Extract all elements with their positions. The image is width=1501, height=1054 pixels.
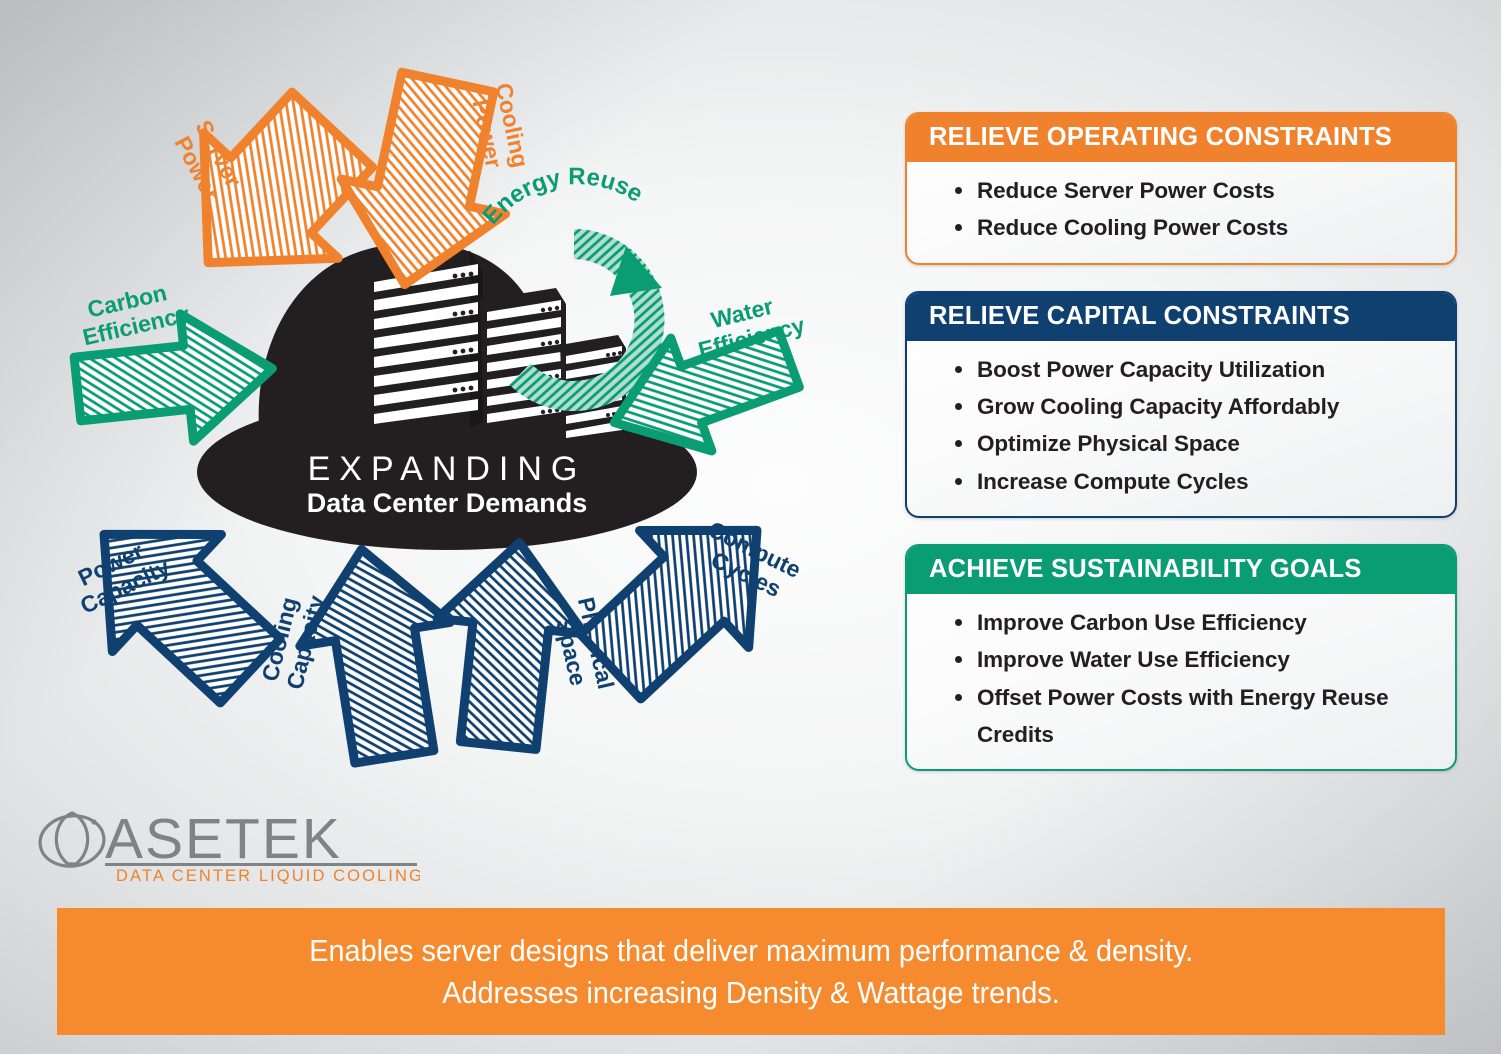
expanding-demands-diagram: EXPANDING Data Center Demands Server Pow… [0,0,880,790]
asetek-tagline: DATA CENTER LIQUID COOLING [116,867,420,885]
benefits-panels: RELIEVE OPERATING CONSTRAINTS Reduce Ser… [905,112,1457,797]
asetek-rule [105,863,417,866]
panel-list: Reduce Server Power Costs Reduce Cooling… [927,172,1435,247]
panel-title: RELIEVE OPERATING CONSTRAINTS [907,114,1455,162]
list-item: Reduce Cooling Power Costs [977,209,1435,246]
bottom-banner: Enables server designs that deliver maxi… [57,908,1445,1035]
list-item: Grow Cooling Capacity Affordably [977,388,1435,425]
panel-body: Boost Power Capacity Utilization Grow Co… [907,341,1455,516]
list-item: Boost Power Capacity Utilization [977,351,1435,388]
asetek-registered-dot [91,819,96,824]
infographic-canvas: EXPANDING Data Center Demands Server Pow… [0,0,1501,1054]
center-title: EXPANDING [308,450,587,488]
panel-body: Reduce Server Power Costs Reduce Cooling… [907,162,1455,263]
panel-relieve-capital-constraints: RELIEVE CAPITAL CONSTRAINTS Boost Power … [905,291,1457,518]
asetek-wordmark: ASETEK [105,807,342,871]
panel-achieve-sustainability-goals: ACHIEVE SUSTAINABILITY GOALS Improve Car… [905,544,1457,771]
list-item: Increase Compute Cycles [977,463,1435,500]
panel-list: Boost Power Capacity Utilization Grow Co… [927,351,1435,500]
list-item: Reduce Server Power Costs [977,172,1435,209]
panel-relieve-operating-constraints: RELIEVE OPERATING CONSTRAINTS Reduce Ser… [905,112,1457,265]
panel-body: Improve Carbon Use Efficiency Improve Wa… [907,594,1455,769]
arrow-label-carbon-efficiency: Carbon Efficiency [74,275,192,350]
banner-line-1: Enables server designs that deliver maxi… [309,930,1193,971]
asetek-mark-icon [37,812,107,870]
panel-title: ACHIEVE SUSTAINABILITY GOALS [907,546,1455,594]
banner-line-2: Addresses increasing Density & Wattage t… [442,972,1059,1013]
panel-list: Improve Carbon Use Efficiency Improve Wa… [927,604,1435,753]
arrow-label-energy-reuse: Energy Reuse [477,163,647,229]
asetek-logo: ASETEK DATA CENTER LIQUID COOLING [30,800,420,885]
list-item: Optimize Physical Space [977,425,1435,462]
arrow-label-cooling-capacity: Cooling Capacity [256,586,330,692]
panel-title: RELIEVE CAPITAL CONSTRAINTS [907,293,1455,341]
center-subtitle: Data Center Demands [307,488,588,518]
list-item: Improve Carbon Use Efficiency [977,604,1435,641]
list-item: Improve Water Use Efficiency [977,641,1435,678]
list-item: Offset Power Costs with Energy Reuse Cre… [977,679,1435,754]
